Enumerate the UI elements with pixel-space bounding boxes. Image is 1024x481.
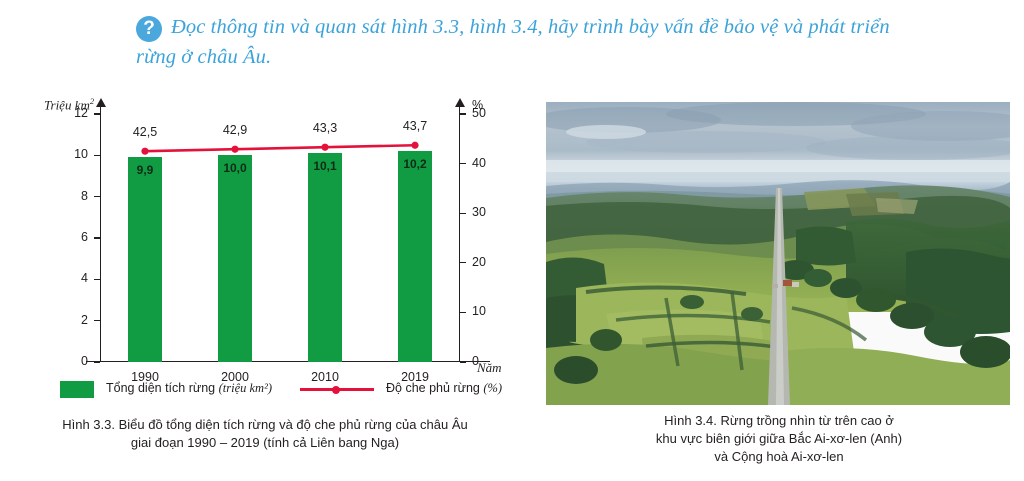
y-tick-label-left-4: 4: [81, 271, 88, 285]
y-tick-right-40: [460, 163, 466, 164]
y-tick-label-right-40: 40: [472, 156, 486, 170]
line-value-2019: 43,7: [385, 119, 445, 133]
y-tick-right-30: [460, 213, 466, 214]
y-tick-right-10: [460, 312, 466, 313]
legend-swatch-bar: [60, 381, 94, 398]
line-point-2000: [231, 146, 238, 153]
legend-label-line: Độ che phủ rừng (%): [386, 381, 502, 396]
y-tick-label-left-8: 8: [81, 189, 88, 203]
y-tick-label-left-12: 12: [74, 106, 88, 120]
figure-33-caption-line1: Hình 3.3. Biểu đồ tổng diện tích rừng và…: [20, 416, 510, 434]
y-tick-right-0: [460, 361, 466, 362]
plot-area: 024681012 01020304050 9,910,010,110,2 19…: [100, 114, 460, 362]
prompt-block: ? Đọc thông tin và quan sát hình 3.3, hì…: [136, 12, 916, 72]
y-tick-label-left-6: 6: [81, 230, 88, 244]
line-series: [100, 106, 460, 362]
line-value-2010: 43,3: [295, 121, 355, 135]
legend-label-bar: Tổng diện tích rừng (triệu km²): [106, 381, 272, 396]
figure-34-caption: Hình 3.4. Rừng trồng nhìn từ trên cao ở …: [546, 412, 1012, 466]
question-mark-icon: ?: [136, 16, 162, 42]
line-value-1990: 42,5: [115, 125, 175, 139]
figure-33-caption-line2: giai đoạn 1990 – 2019 (tính cả Liên bang…: [20, 434, 510, 452]
figure-33-caption: Hình 3.3. Biểu đồ tổng diện tích rừng và…: [20, 416, 510, 452]
line-point-1990: [141, 148, 148, 155]
y-tick-label-left-0: 0: [81, 354, 88, 368]
figure-34-caption-line1: Hình 3.4. Rừng trồng nhìn từ trên cao ở: [546, 412, 1012, 430]
line-point-2010: [321, 144, 328, 151]
chart-legend: Tổng diện tích rừng (triệu km²) Độ che p…: [0, 378, 520, 400]
y-tick-label-right-50: 50: [472, 106, 486, 120]
y-tick-right-50: [460, 113, 466, 114]
prompt-text: Đọc thông tin và quan sát hình 3.3, hình…: [136, 12, 916, 72]
y-tick-label-right-10: 10: [472, 304, 486, 318]
y-tick-label-left-2: 2: [81, 313, 88, 327]
line-value-2000: 42,9: [205, 123, 265, 137]
y-tick-label-right-20: 20: [472, 255, 486, 269]
aerial-forest-photo: [546, 102, 1010, 405]
figure-34-caption-line3: và Cộng hoà Ai-xơ-len: [546, 448, 1012, 466]
legend-dot-marker: [332, 386, 340, 394]
x-axis-title: Năm: [477, 360, 502, 376]
y-tick-label-left-10: 10: [74, 147, 88, 161]
y-tick-label-right-30: 30: [472, 205, 486, 219]
figure-34-caption-line2: khu vực biên giới giữa Bắc Ai-xơ-len (An…: [546, 430, 1012, 448]
line-point-2019: [411, 142, 418, 149]
y-tick-right-20: [460, 262, 466, 263]
y-tick-label-right-0: 0: [472, 354, 479, 368]
